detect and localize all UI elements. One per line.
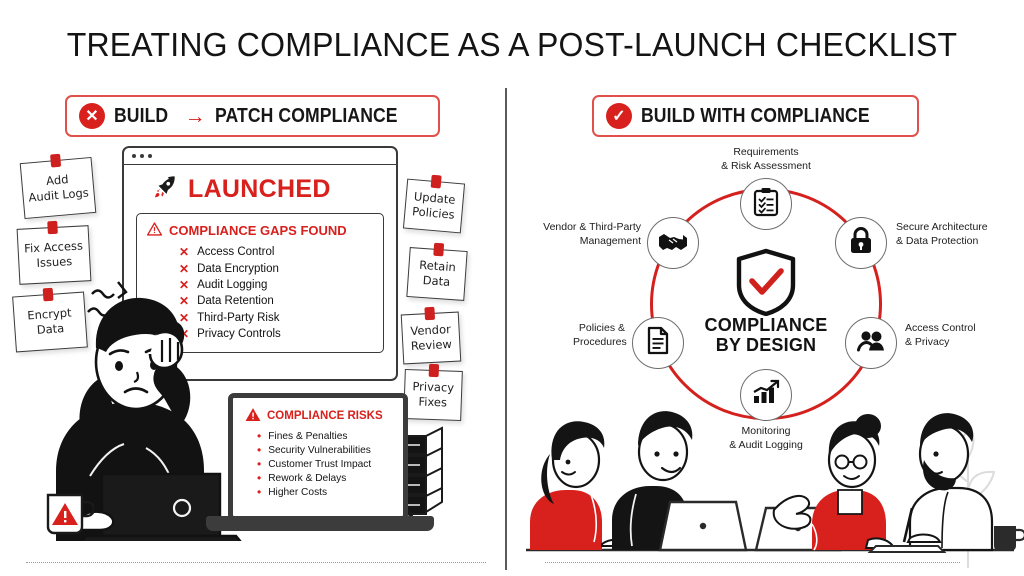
ground-line-left <box>26 562 486 563</box>
browser-title-bar <box>124 148 396 165</box>
gap-list-item: ✕ Access Control <box>147 244 373 260</box>
sticky-note-line2: Issues <box>36 254 72 271</box>
gap-label: Data Encryption <box>197 263 279 275</box>
node-access-control[interactable] <box>845 317 897 369</box>
node-label-secure-architecture: Secure Architecture & Data Protection <box>896 221 988 248</box>
users-icon <box>856 329 886 358</box>
node-label-line1: Requirements <box>666 146 866 160</box>
left-badge-text-after: PATCH COMPLIANCE <box>215 105 398 128</box>
compliance-gaps-title: COMPLIANCE GAPS FOUND <box>169 223 347 238</box>
compliance-gaps-title-row: COMPLIANCE GAPS FOUND <box>147 222 373 239</box>
ground-line-right <box>545 562 960 563</box>
sticky-note-update-policies: Update Policies <box>403 179 465 234</box>
panel-divider <box>505 88 507 570</box>
handshake-icon <box>657 230 689 257</box>
node-secure-architecture[interactable] <box>835 217 887 269</box>
risk-label: Higher Costs <box>268 487 327 498</box>
risk-list-item: • Rework & Delays <box>233 471 403 485</box>
sticky-note-line1: Fix Access <box>24 239 84 257</box>
x-circle-icon: ✕ <box>79 103 105 129</box>
sticky-note-privacy-fixes: Privacy Fixes <box>403 369 463 421</box>
node-label-line1: Secure Architecture <box>896 221 988 235</box>
lock-icon <box>848 226 874 260</box>
node-label-line1: Vendor & Third-Party <box>531 221 641 235</box>
laptop-base <box>206 516 434 531</box>
risk-list-item: • Higher Costs <box>233 485 403 499</box>
sticky-note-line2: Review <box>411 337 453 354</box>
window-dot-icon <box>140 154 144 158</box>
gap-label: Access Control <box>197 246 274 258</box>
coffee-mug-warning-icon <box>40 487 94 539</box>
launched-label: LAUNCHED <box>188 175 331 204</box>
left-panel-badge: ✕ BUILD → PATCH COMPLIANCE <box>65 95 440 137</box>
rocket-icon <box>152 174 178 205</box>
sticky-note-line2: Data <box>422 273 450 290</box>
collaborating-team-illustration <box>516 398 1024 570</box>
node-vendor-management[interactable] <box>647 217 699 269</box>
document-icon <box>646 326 670 360</box>
right-badge-text: BUILD WITH COMPLIANCE <box>641 105 870 128</box>
node-label-line2: & Risk Assessment <box>666 160 866 174</box>
risk-label: Rework & Delays <box>268 473 346 484</box>
node-label-vendor-management: Vendor & Third-Party Management <box>531 221 641 248</box>
check-circle-icon: ✓ <box>606 103 632 129</box>
risk-label: Security Vulnerabilities <box>268 445 371 456</box>
launched-row: LAUNCHED <box>124 165 396 211</box>
sticky-note-line2: Fixes <box>418 395 447 411</box>
x-mark-icon: ✕ <box>179 262 189 276</box>
sticky-note-retain-data: Retain Data <box>406 247 467 301</box>
node-label-line1: Access Control <box>905 322 976 336</box>
warning-triangle-icon <box>147 222 162 239</box>
risk-list-item: • Fines & Penalties <box>233 429 403 443</box>
x-mark-icon: ✕ <box>179 245 189 259</box>
node-label-line1: Policies & <box>573 322 625 336</box>
compliance-risks-laptop: COMPLIANCE RISKS • Fines & Penalties • S… <box>228 393 408 521</box>
risk-label: Fines & Penalties <box>268 431 347 442</box>
risk-list-item: • Security Vulnerabilities <box>233 443 403 457</box>
node-label-policies: Policies & Procedures <box>573 322 625 349</box>
center-title-line2: BY DESIGN <box>666 335 866 355</box>
sticky-note-line2: Policies <box>412 204 456 222</box>
center-title: COMPLIANCE BY DESIGN <box>666 315 866 355</box>
node-policies[interactable] <box>632 317 684 369</box>
node-label-line2: & Privacy <box>905 336 976 350</box>
right-panel-badge: ✓ BUILD WITH COMPLIANCE <box>592 95 919 137</box>
warning-triangle-icon <box>245 407 261 425</box>
sticky-note-vendor-review: Vendor Review <box>401 312 462 365</box>
node-label-line2: Procedures <box>573 336 625 350</box>
node-requirements[interactable] <box>740 178 792 230</box>
infographic-canvas: TREATING COMPLIANCE AS A POST-LAUNCH CHE… <box>0 0 1024 576</box>
compliance-risks-title-row: COMPLIANCE RISKS <box>233 398 403 429</box>
compliance-risks-title: COMPLIANCE RISKS <box>267 410 383 422</box>
risk-list-item: • Customer Trust Impact <box>233 457 403 471</box>
sticky-note-add-audit-logs: Add Audit Logs <box>20 157 97 219</box>
node-label-line2: & Data Protection <box>896 235 988 249</box>
page-title: TREATING COMPLIANCE AS A POST-LAUNCH CHE… <box>15 26 1008 64</box>
sticky-note-line1: Privacy <box>412 380 454 396</box>
node-label-line2: Management <box>531 235 641 249</box>
arrow-right-icon: → <box>185 106 206 127</box>
sticky-note-line2: Audit Logs <box>28 185 89 205</box>
window-dot-icon <box>132 154 136 158</box>
clipboard-checklist-icon <box>752 187 780 222</box>
risk-label: Customer Trust Impact <box>268 459 371 470</box>
left-badge-text-before: BUILD <box>114 105 168 128</box>
window-dot-icon <box>148 154 152 158</box>
node-label-access-control: Access Control & Privacy <box>905 322 976 349</box>
shield-check-icon <box>735 248 797 316</box>
center-title-line1: COMPLIANCE <box>666 315 866 335</box>
node-label-requirements: Requirements & Risk Assessment <box>666 146 866 173</box>
gap-list-item: ✕ Data Encryption <box>147 260 373 276</box>
